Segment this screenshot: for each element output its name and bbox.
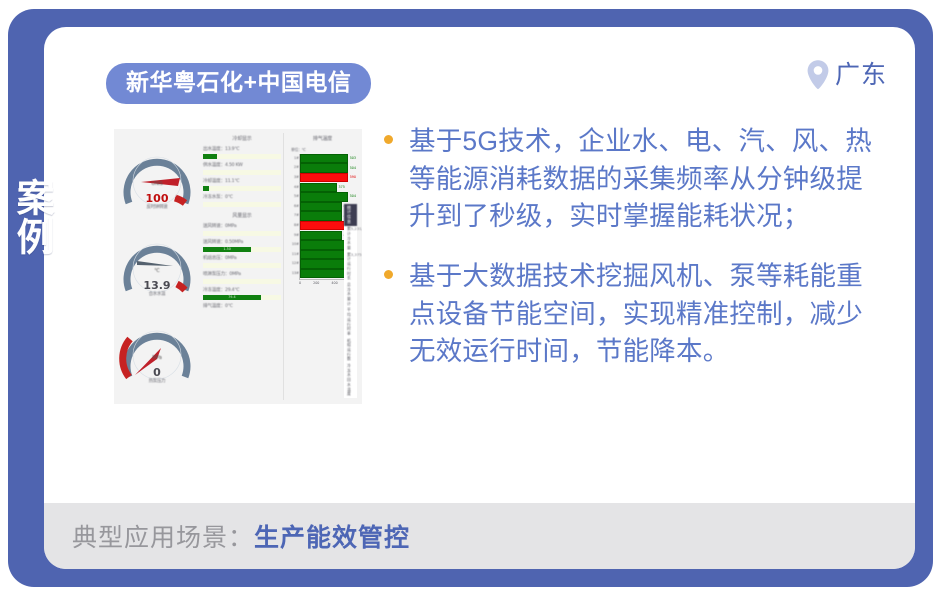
table-row: 平均运行时率 (344, 307, 357, 337)
footer-bar: 典型应用场景： 生产能效管控 (44, 503, 915, 569)
parameter-row: 机组总压：0MPa (203, 256, 281, 268)
footer-value: 生产能效管控 (254, 518, 410, 554)
parameter-row: 送风转速：0.50MPa 1.50 (203, 240, 281, 252)
chart-y-tick-label: 6# (289, 205, 299, 208)
parameter-bar (203, 170, 281, 175)
chart-bar-row: 5#504 (300, 192, 356, 202)
parameter-row: 出水温度：13.9℃ (203, 147, 281, 159)
parameter-section-title-1: 冷却显示 (203, 137, 281, 142)
table-row: 冷冻水回水温度 (344, 363, 357, 398)
parameter-label: 冷却温度：11.1℃ (203, 179, 281, 185)
chart-bar-row: 4#375 (300, 183, 356, 193)
side-tab-label: 案例 (11, 178, 51, 256)
chart-bar (300, 221, 348, 230)
table-cell-name: 平均运行时率 (347, 308, 354, 336)
chart-bar-value-label: 375 (339, 186, 345, 189)
gauge-caption: 合水水温 (117, 293, 197, 297)
bullet-dot-icon (384, 135, 393, 144)
company-badge: 新华粤石化+中国电信 (106, 63, 371, 104)
parameter-row: 冷冻温度：29.4℃ 79.4 (203, 288, 281, 300)
table-cell-name: 机组运行数 (347, 339, 354, 363)
chart-bar (300, 240, 348, 249)
table-cell-name: 冷冻水回水温度 (347, 364, 354, 397)
footer-label: 典型应用场景： (72, 518, 254, 554)
parameter-bar (203, 279, 281, 284)
gauge-rotation-speed: UNIS 100 反时钟转速 (117, 141, 197, 225)
slide-frame: 案例 新华粤石化+中国电信 广东 (8, 9, 933, 587)
chart-bar (300, 192, 348, 201)
chart-bar (300, 259, 348, 268)
chart-y-tick-label: 8# (289, 224, 299, 227)
chart-y-tick-label: 7# (289, 214, 299, 217)
chart-bar-row: 1#503 (300, 154, 356, 164)
parameter-label: 供水温度：4.50 KW (203, 163, 281, 169)
parameter-column: 冷却显示 出水温度：13.9℃ 供水温度：4.50 KW 冷却温度：11.1℃ … (200, 129, 284, 404)
gauge-unit: ℃ (117, 268, 197, 274)
gauge-value: 13.9 (117, 280, 197, 291)
chart-y-tick-label: 4# (289, 186, 299, 189)
map-pin-icon-svg (805, 59, 831, 91)
chart-bar-row: 2#504 (300, 163, 356, 173)
statistics-table: 统计信息 累计冷水量5,231,782累计运行时长3,375总冷水量计平均运行时… (344, 204, 357, 398)
parameter-bar-fill: 79.4 (203, 295, 261, 300)
parameter-label: 喷淋泵压力：0MPa (203, 272, 281, 278)
bullet-text: 基于5G技术，企业水、电、汽、风、热等能源消耗数据的采集频率从分钟级提升到了秒级… (409, 123, 884, 236)
chart-bar (300, 211, 342, 220)
parameter-row: 供水温度：4.50 KW (203, 163, 281, 175)
chart-bar-value-label: 503 (350, 157, 356, 160)
parameter-bar: 1.50 (203, 247, 281, 252)
gauge-value: 100 (117, 193, 197, 204)
chart-axis-unit: 单位：℃ (291, 148, 356, 152)
bullet-text: 基于大数据技术挖掘风机、泵等耗能重点设备节能空间，实现精准控制，减少无效运行时间… (409, 258, 884, 371)
gauge-unit: MPa (117, 355, 197, 361)
table-cell-value: 5,231,782 (351, 227, 362, 251)
parameter-row: 喷淋泵压力：0MPa (203, 272, 281, 284)
bullet-dot-icon (384, 270, 393, 279)
list-item: 基于5G技术，企业水、电、汽、风、热等能源消耗数据的采集频率从分钟级提升到了秒级… (384, 123, 884, 236)
chart-y-tick-label: 11# (289, 253, 299, 256)
gauge-caption: 热泵压力 (117, 380, 197, 384)
list-item: 基于大数据技术挖掘风机、泵等耗能重点设备节能空间，实现精准控制，减少无效运行时间… (384, 258, 884, 371)
table-row: 机组运行数 (344, 338, 357, 363)
chart-bar (300, 183, 337, 192)
chart-y-tick-label: 5# (289, 195, 299, 198)
gauge-column: UNIS 100 反时钟转速 ℃ 13.9 合水水温 (114, 129, 200, 404)
chart-y-tick-label: 13# (289, 272, 299, 275)
chart-bar (300, 173, 348, 182)
table-row: 总冷水量计 (344, 282, 357, 307)
chart-bar (300, 231, 342, 240)
chart-bar (300, 269, 348, 278)
chart-y-tick-label: 12# (289, 262, 299, 265)
parameter-bar-fill (203, 186, 209, 191)
table-cell-value: 3,375 (351, 253, 362, 281)
content-card: 新华粤石化+中国电信 广东 UN (44, 27, 915, 569)
parameter-label: 送风转速：0MPa (203, 224, 281, 230)
chart-bar (300, 250, 346, 259)
chart-y-tick-label: 9# (289, 234, 299, 237)
parameter-bar (203, 231, 281, 236)
chart-title: 排气温度 (289, 137, 356, 142)
parameter-bar (203, 263, 281, 268)
parameter-bar (203, 186, 281, 191)
chart-x-tick-label: 200 (313, 281, 319, 285)
bar-chart-panel: 排气温度 单位：℃ 1#5032#5043#5904#3755#5046#427… (284, 129, 362, 404)
chart-bar (300, 154, 348, 163)
side-tab-case: 案例 (8, 117, 54, 317)
bullet-list: 基于5G技术，企业水、电、汽、风、热等能源消耗数据的采集频率从分钟级提升到了秒级… (384, 123, 884, 393)
parameter-row: 冷冻水泵：0℃ (203, 195, 281, 207)
chart-y-tick-label: 1# (289, 157, 299, 160)
gauge-water-temp: ℃ 13.9 合水水温 (117, 228, 197, 312)
parameter-section-title-2: 风量显示 (203, 214, 281, 219)
gauge-unit: UNIS (117, 181, 197, 187)
chart-x-tick-label: 400 (331, 281, 337, 285)
parameter-label: 出水温度：13.9℃ (203, 147, 281, 153)
gauge-value: 0 (117, 367, 197, 378)
parameter-label: 机组总压：0MPa (203, 256, 281, 262)
chart-bar-row: 3#590 (300, 173, 356, 183)
chart-bar-value-label: 504 (350, 167, 356, 170)
chart-x-tick-label: 0 (299, 281, 301, 285)
parameter-bar: 79.4 (203, 295, 281, 300)
chart-bar (300, 202, 342, 211)
parameter-bar (203, 202, 281, 207)
statistics-table-header: 统计信息 (344, 204, 357, 226)
dashboard-screenshot: UNIS 100 反时钟转速 ℃ 13.9 合水水温 (114, 129, 362, 404)
map-pin-icon (805, 59, 831, 91)
chart-y-tick-label: 3# (289, 176, 299, 179)
parameter-row: 冷却温度：11.1℃ (203, 179, 281, 191)
parameter-label: 冷冻温度：29.4℃ (203, 288, 281, 294)
chart-y-tick-label: 10# (289, 243, 299, 246)
chart-bar (300, 163, 348, 172)
table-row: 累计冷水量5,231,782 (344, 226, 357, 251)
parameter-label: 冷冻水泵：0℃ (203, 195, 281, 201)
parameter-bar (203, 154, 281, 159)
statistics-table-body: 累计冷水量5,231,782累计运行时长3,375总冷水量计平均运行时率机组运行… (344, 226, 357, 398)
parameter-row: 送风转速：0MPa (203, 224, 281, 236)
parameter-label: 送风转速：0.50MPa (203, 240, 281, 246)
region-label: 广东 (835, 63, 887, 88)
table-row: 累计运行时长3,375 (344, 252, 357, 282)
table-cell-name: 总冷水量计 (347, 283, 354, 307)
chart-bar-value-label: 590 (350, 176, 356, 179)
parameter-label: 排气温度：0℃ (203, 304, 281, 310)
parameter-bar-fill: 1.50 (203, 247, 251, 252)
parameter-bar-fill (203, 154, 217, 159)
gauge-pump-pressure: MPa 0 热泵压力 (117, 315, 197, 399)
region-indicator: 广东 (805, 59, 887, 91)
parameter-row: 排气温度：0℃ (203, 304, 281, 310)
gauge-caption: 反时钟转速 (117, 206, 197, 210)
chart-y-tick-label: 2# (289, 166, 299, 169)
chart-bar-value-label: 504 (350, 195, 356, 198)
